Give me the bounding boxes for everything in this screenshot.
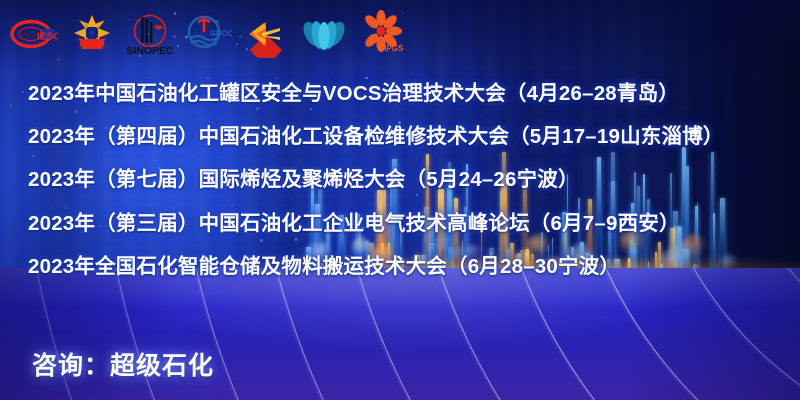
conference-line: 2023年（第七届）国际烯烃及聚烯烃大会（5月24–26宁波）	[28, 158, 778, 201]
logo-petrochina	[68, 10, 116, 58]
conference-list: 2023年中国石油化工罐区安全与VOCS治理技术大会（4月26–28青岛） 20…	[28, 72, 778, 288]
sponsor-logo-row: 中国化工学会 IESC	[10, 8, 430, 60]
logo-cnooc: CNOOC	[184, 10, 232, 58]
conference-banner: 中国化工学会 IESC	[0, 0, 800, 400]
svg-text:CNOOC: CNOOC	[210, 29, 232, 38]
logo-hpgs: HPGS	[358, 10, 406, 58]
svg-text:SINOPEC: SINOPEC	[126, 45, 174, 57]
conference-line: 2023年全国石化智能仓储及物料搬运技术大会（6月28–30宁波）	[28, 245, 778, 288]
conference-line: 2023年（第四届）中国石油化工设备检维修技术大会（5月17–19山东淄博）	[28, 115, 778, 158]
logo-ciesc: 中国化工学会 IESC	[10, 10, 58, 58]
logo-sinochem-lotus	[300, 10, 348, 58]
conference-line: 2023年（第三届）中国石油化工企业电气技术高峰论坛（6月7–9西安）	[28, 202, 778, 245]
conference-line: 2023年中国石油化工罐区安全与VOCS治理技术大会（4月26–28青岛）	[28, 72, 778, 115]
svg-text:HPGS: HPGS	[381, 44, 404, 53]
logo-sinopec-text: SINOPEC	[126, 10, 174, 58]
contact-label: 咨询：超级石化	[32, 346, 214, 382]
svg-text:IESC: IESC	[37, 32, 58, 43]
logo-chemchina	[242, 10, 290, 58]
